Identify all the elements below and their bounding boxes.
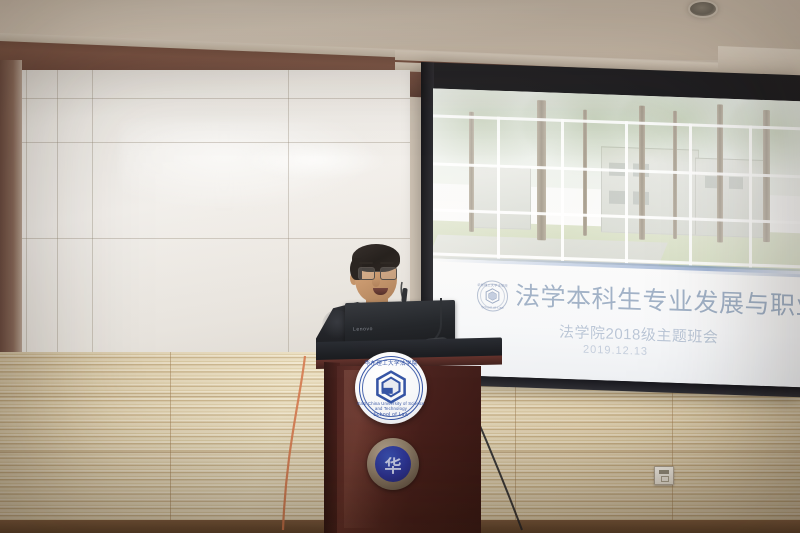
laptop-brand-label: Lenovo <box>353 326 373 333</box>
tile-seam <box>92 70 93 360</box>
tile-seam <box>288 70 289 360</box>
glasses-bridge <box>373 271 380 272</box>
podium-emblem-arc-bottom-law: School of Law <box>355 412 427 418</box>
recessed-downlight-icon <box>690 2 716 16</box>
lecture-hall-photo: 华东理工大学法学院 School of Law 法学本科生专业发展与职业选 法学… <box>0 0 800 533</box>
lens-right <box>380 267 397 280</box>
tile-seam <box>0 238 410 239</box>
slide-date: 2019.12.13 <box>583 344 648 358</box>
tile-wall-glare-2 <box>240 140 390 180</box>
tile-seam <box>0 98 410 99</box>
podium-emblem-cube-icon <box>374 370 408 404</box>
tile-seam <box>0 142 410 143</box>
photo-grid-line <box>625 121 628 263</box>
seal-glyph: 华 <box>367 438 419 490</box>
nose <box>372 277 380 287</box>
emblem-cube-icon <box>484 287 501 305</box>
podium-law-school-emblem-icon: 华东理工大学法学院 East China University of Scien… <box>355 352 427 424</box>
law-school-emblem-icon: 华东理工大学法学院 School of Law <box>477 279 508 311</box>
photo-grid-line <box>689 123 692 265</box>
outlet-slot-icon <box>659 470 669 474</box>
podium-emblem-arc-top: 华东理工大学法学院 <box>355 359 427 367</box>
emblem-arc-top: 华东理工大学法学院 <box>477 281 508 287</box>
valance-end-cap <box>718 46 800 75</box>
podium-emblem-arc-bottom-en: East China University of Science and Tec… <box>355 401 427 411</box>
wall-corner-shadow <box>0 60 22 360</box>
photo-grid-line <box>497 117 500 259</box>
photo-grid-line <box>749 125 752 267</box>
slide-photo <box>433 88 800 271</box>
emblem-arc-bottom: School of Law <box>477 304 508 309</box>
outlet-socket-icon <box>661 476 669 482</box>
tile-seam <box>26 70 27 360</box>
tile-seam <box>57 70 58 360</box>
panel-seam <box>170 352 171 533</box>
photo-grid-line <box>561 119 564 261</box>
wall-power-outlet[interactable] <box>654 466 674 485</box>
podium-metal-seal-icon: 华 <box>367 438 419 490</box>
